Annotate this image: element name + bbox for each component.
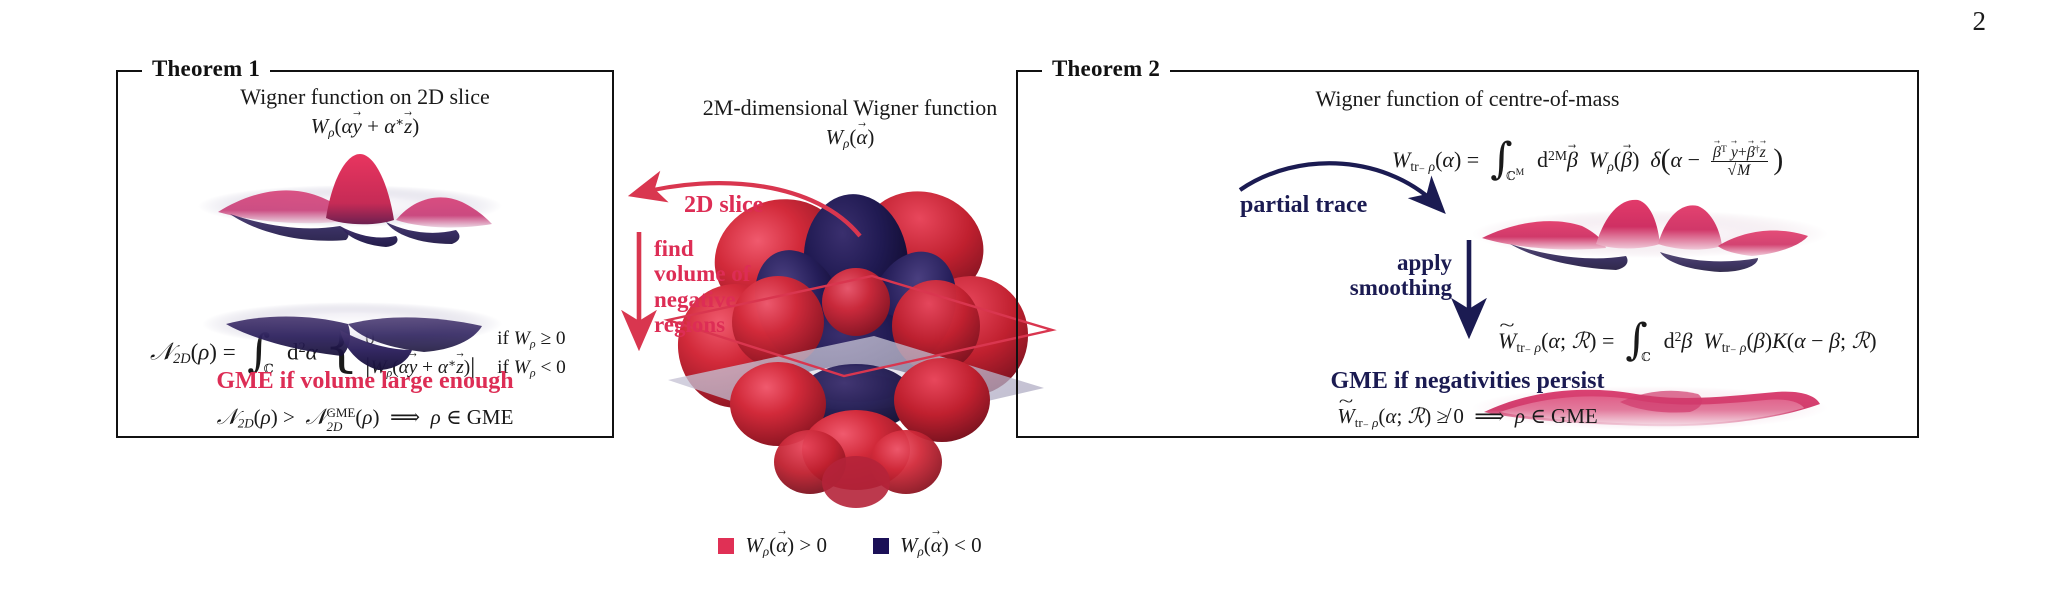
legend-item-negative: Wρ(α) < 0 <box>873 533 982 560</box>
find-volume-label-line-0: find <box>654 236 750 261</box>
theorem-2-conclusion-equation: Wtr₋ ρ(α; ℛ) ≱ 0 ⟹ ρ ∈ GME <box>1016 404 1919 431</box>
centre-of-mass-wigner-surface-plot <box>1470 182 1830 282</box>
find-volume-label-line-2: negative <box>654 287 750 312</box>
theorem-1-conclusion-equation: 𝒩2D(ρ) > 𝒩GME2D(ρ) ⟹ ρ ∈ GME <box>116 404 614 432</box>
find-volume-label: find volume of negative regions <box>654 236 750 337</box>
wigner-slice-surface-plot <box>200 140 530 250</box>
find-volume-label-line-1: volume of <box>654 261 750 286</box>
legend-item-positive: Wρ(α) > 0 <box>718 533 827 560</box>
center-title-line1: 2M-dimensional Wigner function <box>640 95 1060 121</box>
theorem-2-conclusion: GME if negativities persist Wtr₋ ρ(α; ℛ)… <box>1016 368 1919 431</box>
center-legend: Wρ(α) > 0 Wρ(α) < 0 <box>640 533 1060 560</box>
theorem-1-caption-formula: Wρ(αy + α∗z) <box>116 114 614 140</box>
theorem-1-conclusion: GME if volume large enough 𝒩2D(ρ) > 𝒩GME… <box>116 368 614 432</box>
theorem-1-caption-line1: Wigner function on 2D slice <box>116 84 614 110</box>
page-number: 2 <box>1973 6 1987 37</box>
find-volume-label-line-3: regions <box>654 312 750 337</box>
positive-swatch <box>718 538 734 554</box>
theorem-1-caption: Wigner function on 2D slice Wρ(αy + α∗z) <box>116 84 614 140</box>
slice-arrow-label: 2D slice <box>684 192 763 218</box>
theorem-2-trace-equation: Wtr₋ ρ(α) = ∫ℂM d2Mβ Wρ(β) δ(α − βT y+β†… <box>1392 142 1783 184</box>
theorem-2-caption: Wigner function of centre-of-mass <box>1016 86 1919 112</box>
theorem-2-conclusion-text: GME if negativities persist <box>1016 368 1919 395</box>
legend-positive-label: Wρ(α) > 0 <box>745 533 827 560</box>
negative-swatch <box>873 538 889 554</box>
center-title: 2M-dimensional Wigner function Wρ(α) <box>640 95 1060 152</box>
theorem-2-legend: Theorem 2 <box>1042 56 1170 82</box>
center-title-formula: Wρ(α) <box>640 125 1060 152</box>
find-volume-arrow <box>630 230 656 360</box>
theorem-1-legend: Theorem 1 <box>142 56 270 82</box>
theorem-1-conclusion-text: GME if volume large enough <box>116 368 614 395</box>
legend-negative-label: Wρ(α) < 0 <box>900 533 982 560</box>
theorem-2-smoothing-equation: Wtr₋ ρ(α; ℛ) = ∫ℂ d2β Wtr₋ ρ(β)K(α − β; … <box>1498 328 1877 365</box>
